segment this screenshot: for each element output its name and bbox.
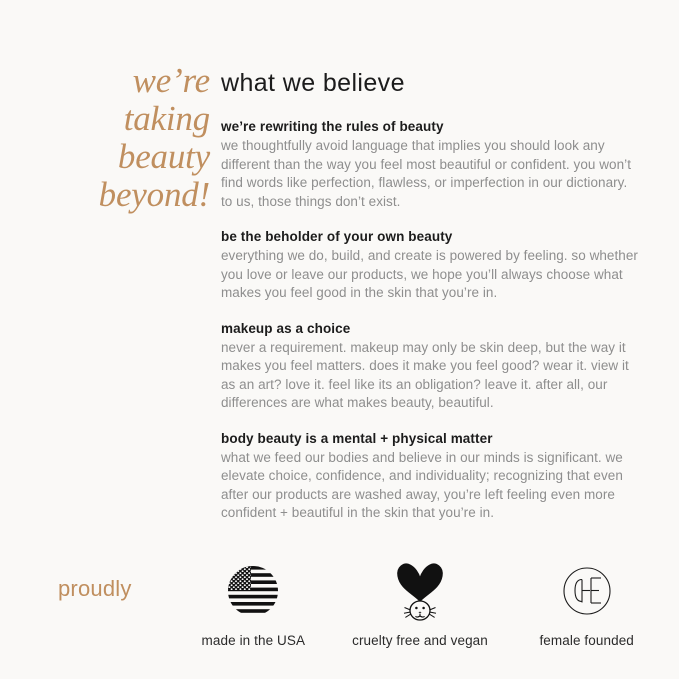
female-founded-seal-icon	[560, 560, 614, 622]
footer-badges-section: proudly	[0, 552, 679, 679]
belief-item: makeup as a choice never a requirement. …	[221, 320, 641, 413]
badge-row: made in the USA	[170, 560, 670, 649]
believe-page: we’re taking beauty beyond! what we beli…	[0, 0, 679, 679]
page-title: what we believe	[221, 68, 641, 98]
belief-item: body beauty is a mental + physical matte…	[221, 430, 641, 523]
belief-item: we’re rewriting the rules of beauty we t…	[221, 118, 641, 211]
beliefs-content: what we believe we’re rewriting the rule…	[221, 68, 641, 523]
belief-title: be the beholder of your own beauty	[221, 228, 641, 246]
belief-body: never a requirement. makeup may only be …	[221, 339, 641, 413]
belief-title: we’re rewriting the rules of beauty	[221, 118, 641, 136]
belief-title: body beauty is a mental + physical matte…	[221, 430, 641, 448]
top-section: we’re taking beauty beyond! what we beli…	[0, 0, 679, 552]
script-line-2: taking	[62, 100, 210, 138]
script-line-3: beauty	[62, 138, 210, 176]
proudly-label: proudly	[58, 576, 132, 602]
badge-cruelty-free: cruelty free and vegan	[337, 560, 504, 649]
usa-flag-circle-icon	[226, 560, 280, 622]
belief-item: be the beholder of your own beauty every…	[221, 228, 641, 303]
badge-label: female founded	[539, 632, 633, 649]
belief-body: everything we do, build, and create is p…	[221, 247, 641, 303]
belief-title: makeup as a choice	[221, 320, 641, 338]
brand-script-headline: we’re taking beauty beyond!	[62, 62, 210, 214]
script-line-1: we’re	[62, 62, 210, 100]
script-line-4: beyond!	[62, 176, 210, 214]
badge-label: cruelty free and vegan	[352, 632, 488, 649]
badge-made-in-usa: made in the USA	[170, 560, 337, 649]
cruelty-free-bunny-icon	[392, 560, 448, 622]
belief-body: what we feed our bodies and believe in o…	[221, 449, 641, 523]
belief-body: we thoughtfully avoid language that impl…	[221, 137, 641, 211]
badge-label: made in the USA	[202, 632, 306, 649]
badge-female-founded: female founded	[503, 560, 670, 649]
